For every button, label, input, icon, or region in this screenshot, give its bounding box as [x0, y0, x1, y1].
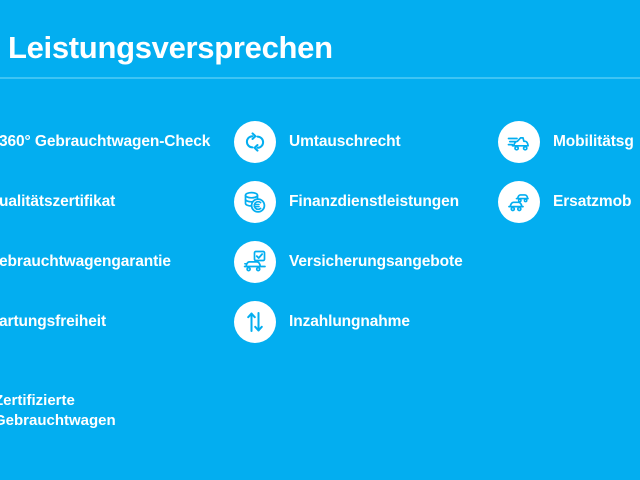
- list-item-label: Versicherungsangebote: [289, 253, 463, 271]
- list-item[interactable]: Ersatzmob: [498, 172, 640, 232]
- coins-euro-icon: [234, 181, 276, 223]
- slide-root: ere Leistungsversprechen 360° Gebrauchtw…: [0, 0, 640, 480]
- list-item-label: Umtauschrecht: [289, 133, 401, 151]
- page-title: ere Leistungsversprechen: [0, 28, 640, 68]
- column-1: 360° Gebrauchtwagen-Check ualitätszertif…: [0, 112, 274, 352]
- column-3: Mobilitätsg Ersatzmob: [498, 112, 640, 232]
- exchange-arrows-icon: [234, 121, 276, 163]
- up-down-arrows-icon: [234, 301, 276, 343]
- list-item[interactable]: Mobilitätsg: [498, 112, 640, 172]
- title-divider: [0, 77, 640, 79]
- list-item[interactable]: ebrauchtwagengarantie: [0, 232, 274, 292]
- list-item-label: Ersatzmob: [553, 193, 631, 211]
- list-item-label: artungsfreiheit: [0, 313, 106, 331]
- two-cars-icon: [498, 181, 540, 223]
- list-item[interactable]: ualitätszertifikat: [0, 172, 274, 232]
- list-item-label: ebrauchtwagengarantie: [0, 253, 171, 271]
- list-item-label: Finanzdienstleistungen: [289, 193, 459, 211]
- list-item[interactable]: 360° Gebrauchtwagen-Check: [0, 112, 274, 172]
- list-item[interactable]: Versicherungsangebote: [234, 232, 534, 292]
- list-item[interactable]: Finanzdienstleistungen: [234, 172, 534, 232]
- footer-note-line-2: Gebrauchtwagen: [0, 411, 116, 431]
- footer-note-line-1: Zertifizierte: [0, 391, 116, 411]
- list-item-label: 360° Gebrauchtwagen-Check: [0, 133, 210, 151]
- list-item-label: ualitätszertifikat: [0, 193, 115, 211]
- car-speed-lines-icon: [498, 121, 540, 163]
- list-item[interactable]: Umtauschrecht: [234, 112, 534, 172]
- list-item[interactable]: Inzahlungnahme: [234, 292, 534, 352]
- footer-note: Zertifizierte Gebrauchtwagen: [0, 391, 116, 431]
- list-item-label: Mobilitätsg: [553, 133, 634, 151]
- column-2: Umtauschrecht Finanzdienstleistungen: [234, 112, 534, 352]
- list-item[interactable]: artungsfreiheit: [0, 292, 274, 352]
- list-item-label: Inzahlungnahme: [289, 313, 410, 331]
- car-checkbox-icon: [234, 241, 276, 283]
